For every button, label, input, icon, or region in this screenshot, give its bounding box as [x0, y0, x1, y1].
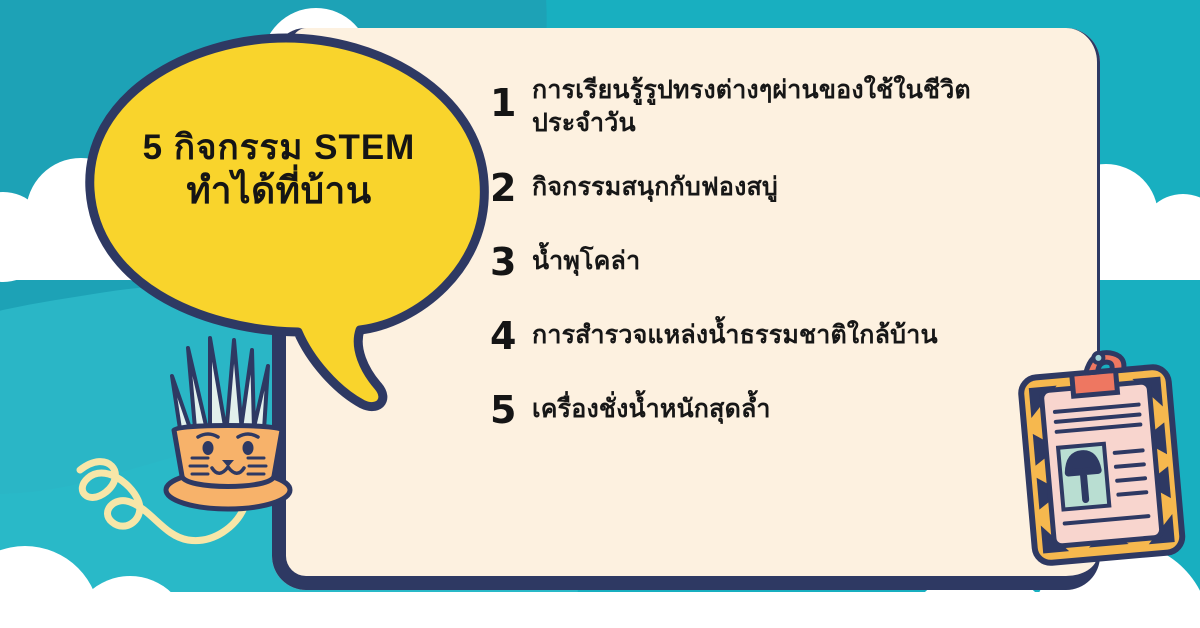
bubble-headline-line2: ทำได้ที่บ้าน	[114, 168, 444, 214]
list-item[interactable]: 2 กิจกรรมสนุกกับฟองสบู่	[490, 169, 1010, 209]
list-item-label: กิจกรรมสนุกกับฟองสบู่	[532, 169, 1010, 204]
activity-list: 1 การเรียนรู้รูปทรงต่างๆผ่านของใช้ในชีวิ…	[490, 72, 1010, 445]
poster-canvas: 1 การเรียนรู้รูปทรงต่างๆผ่านของใช้ในชีวิ…	[0, 0, 1200, 628]
list-item[interactable]: 4 การสำรวจแหล่งน้ำธรรมชาติใกล้บ้าน	[490, 317, 1010, 357]
cat-planter-icon	[148, 330, 308, 520]
list-item[interactable]: 5 เครื่องชั่งน้ำหนักสุดล้ำ	[490, 391, 1010, 431]
list-item-label: เครื่องชั่งน้ำหนักสุดล้ำ	[532, 391, 1010, 426]
list-item-label: น้ำพุโคล่า	[532, 243, 1010, 278]
list-item-label: การสำรวจแหล่งน้ำธรรมชาติใกล้บ้าน	[532, 317, 1010, 352]
list-item[interactable]: 1 การเรียนรู้รูปทรงต่างๆผ่านของใช้ในชีวิ…	[490, 72, 1010, 139]
list-item[interactable]: 3 น้ำพุโคล่า	[490, 243, 1010, 283]
clipboard-icon	[1012, 348, 1192, 583]
list-item-label: การเรียนรู้รูปทรงต่างๆผ่านของใช้ในชีวิตป…	[532, 72, 1010, 139]
speech-bubble-text: 5 กิจกรรม STEM ทำได้ที่บ้าน	[114, 128, 444, 215]
bubble-headline-line1: 5 กิจกรรม STEM	[114, 128, 444, 168]
